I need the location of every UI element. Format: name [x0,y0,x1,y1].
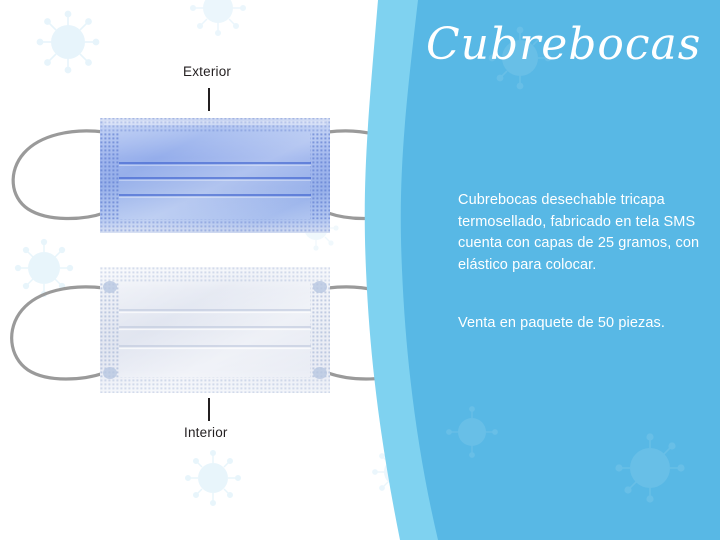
ear-loop-left [13,131,104,219]
mask-body [100,267,330,393]
slide-canvas: Exterior [0,0,720,540]
product-description: Cubrebocas desechable tricapa termosella… [458,190,710,276]
ear-loop-left [12,287,104,379]
sale-note: Venta en paquete de 50 piezas. [458,313,714,335]
info-panel: Cubrebocas Cubrebocas desechable tricapa… [360,0,720,540]
surgical-mask-exterior [0,105,420,245]
page-title: Cubrebocas [426,22,716,68]
leader-line-interior [208,398,210,421]
label-interior: Interior [184,425,228,440]
mask-body [100,118,330,233]
surgical-mask-interior [0,255,420,405]
mask-diagram: Exterior [0,0,420,540]
label-exterior: Exterior [183,64,231,79]
